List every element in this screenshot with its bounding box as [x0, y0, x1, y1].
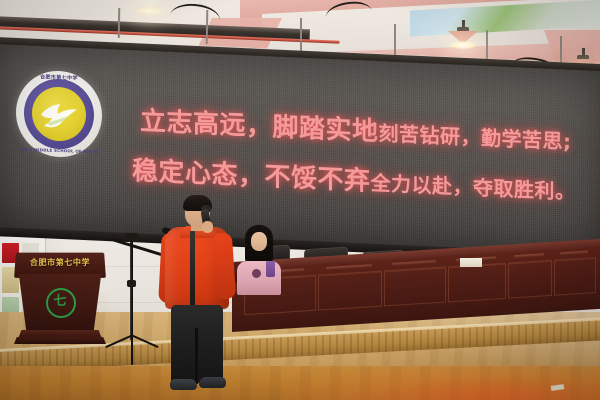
- table-handle: [560, 251, 588, 256]
- seated-attendee: [236, 225, 282, 293]
- mic-stand-pole: [130, 234, 133, 340]
- lectern-school-name: 合肥市第七中学: [12, 257, 108, 268]
- speaker-jacket-zipper: [190, 231, 195, 305]
- hall-floor-light-reflection: [280, 364, 600, 400]
- speaker-right-arm: [212, 232, 237, 299]
- table-handle: [326, 264, 372, 270]
- speaker-person: [160, 193, 234, 400]
- speaker-trousers-seam: [195, 328, 198, 384]
- mic-stand-height-knob: [127, 280, 136, 287]
- led-line1-mid: 脚踏实地: [273, 112, 379, 147]
- mic-stand-leg: [131, 334, 159, 348]
- led-line2-main: 稳定心态，: [132, 156, 265, 192]
- mic-stand-leg: [105, 334, 133, 348]
- mic-stand-clamp: [125, 233, 138, 242]
- lamp-glow: [136, 7, 162, 15]
- led-slogan-line-1: 立志高远，脚踏实地刻苦钻研，勤学苦思;: [140, 101, 572, 157]
- attendee-face: [251, 232, 267, 251]
- conference-table-group: [232, 246, 600, 338]
- lectern-base-lower: [14, 337, 106, 344]
- table-panel: [448, 263, 506, 303]
- speaker-hand: [202, 221, 213, 233]
- table-handle: [392, 260, 436, 266]
- lectern: 合肥市第七中学 七: [12, 252, 108, 346]
- table-panel: [318, 271, 382, 311]
- led-line2-small: 全力以赴，夺取胜利。: [371, 171, 576, 204]
- table-panel: [384, 267, 446, 307]
- led-display-board: 立志高远，脚踏实地刻苦钻研，勤学苦思; 稳定心态，不馁不弃全力以赴，夺取胜利。 …: [0, 44, 600, 244]
- mic-stand-leg: [131, 335, 133, 365]
- speaker-right-shoe: [199, 377, 226, 388]
- purple-cup: [266, 261, 275, 277]
- led-line1-small: 刻苦钻研，勤学苦思;: [379, 121, 572, 154]
- led-line1-main: 立志高远，: [140, 107, 273, 143]
- attendee-top-motif: [252, 269, 261, 278]
- dove-icon: [38, 98, 80, 131]
- lectern-emblem-glyph: 七: [53, 294, 67, 310]
- lectern-emblem-icon: 七: [46, 288, 76, 318]
- paper-stack-on-table: [460, 258, 482, 267]
- table-panel: [508, 260, 552, 299]
- table-handle: [514, 253, 544, 258]
- photo-scene: 火栓 消火栓 立志高远，脚踏实地刻苦钻研，勤学苦思; 稳定心态，不馁不弃全力以赴…: [0, 0, 600, 400]
- mic-stand-boom-arm: [112, 238, 166, 257]
- speaker-left-shoe: [170, 379, 197, 390]
- led-line2-mid: 不馁不弃: [265, 162, 371, 197]
- table-panel: [554, 257, 596, 296]
